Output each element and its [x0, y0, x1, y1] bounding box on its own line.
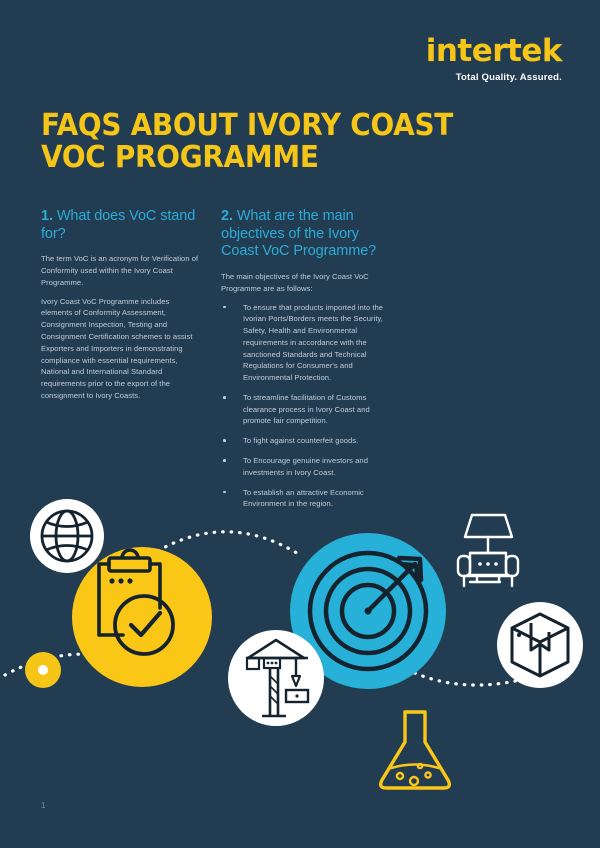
list-item: To ensure that products imported into th… — [221, 302, 396, 384]
faq-heading-1: 1. What does VoC stand for? — [41, 208, 201, 243]
faq-heading-2: 2. What are the main objectives of the I… — [221, 208, 396, 261]
faq-column-1: 1. What does VoC stand for? The term VoC… — [41, 208, 201, 518]
faq-column-2: 2. What are the main objectives of the I… — [221, 208, 396, 518]
faq-columns: 1. What does VoC stand for? The term VoC… — [41, 208, 563, 518]
faq-paragraph: Ivory Coast VoC Programme includes eleme… — [41, 296, 201, 402]
list-item: To fight against counterfeit goods. — [221, 435, 396, 447]
faq-paragraph: The main objectives of the Ivory Coast V… — [221, 271, 396, 295]
clipboard-check-icon — [72, 547, 212, 687]
page-number: 1 — [41, 801, 45, 810]
list-item: To Encourage genuine investors and inves… — [221, 455, 396, 479]
flask-icon — [381, 712, 450, 788]
faq-number-1: 1. — [41, 208, 53, 224]
page-title: FAQS ABOUT IVORY COAST VOC PROGRAMME — [41, 110, 525, 175]
illustration-graphic — [0, 480, 600, 810]
dot-marker-icon — [25, 652, 61, 688]
lamp-sofa-furniture-icon — [458, 515, 518, 586]
brand-logo: intertek Total Quality. Assured. — [426, 36, 562, 83]
faq-number-2: 2. — [221, 208, 233, 224]
objectives-list: To ensure that products imported into th… — [221, 302, 396, 510]
document-page: intertek Total Quality. Assured. FAQS AB… — [0, 0, 600, 848]
faq-heading-text-1: What does VoC stand for? — [41, 208, 195, 242]
logo-wordmark: intertek — [426, 36, 562, 67]
package-box-icon — [497, 602, 583, 688]
faq-heading-text-2: What are the main objectives of the Ivor… — [221, 208, 376, 259]
crane-icon — [228, 630, 324, 726]
list-item: To streamline facilitation of Customs cl… — [221, 392, 396, 427]
faq-paragraph: The term VoC is an acronym for Verificat… — [41, 253, 201, 288]
logo-tagline: Total Quality. Assured. — [426, 73, 562, 83]
globe-icon — [30, 499, 104, 573]
